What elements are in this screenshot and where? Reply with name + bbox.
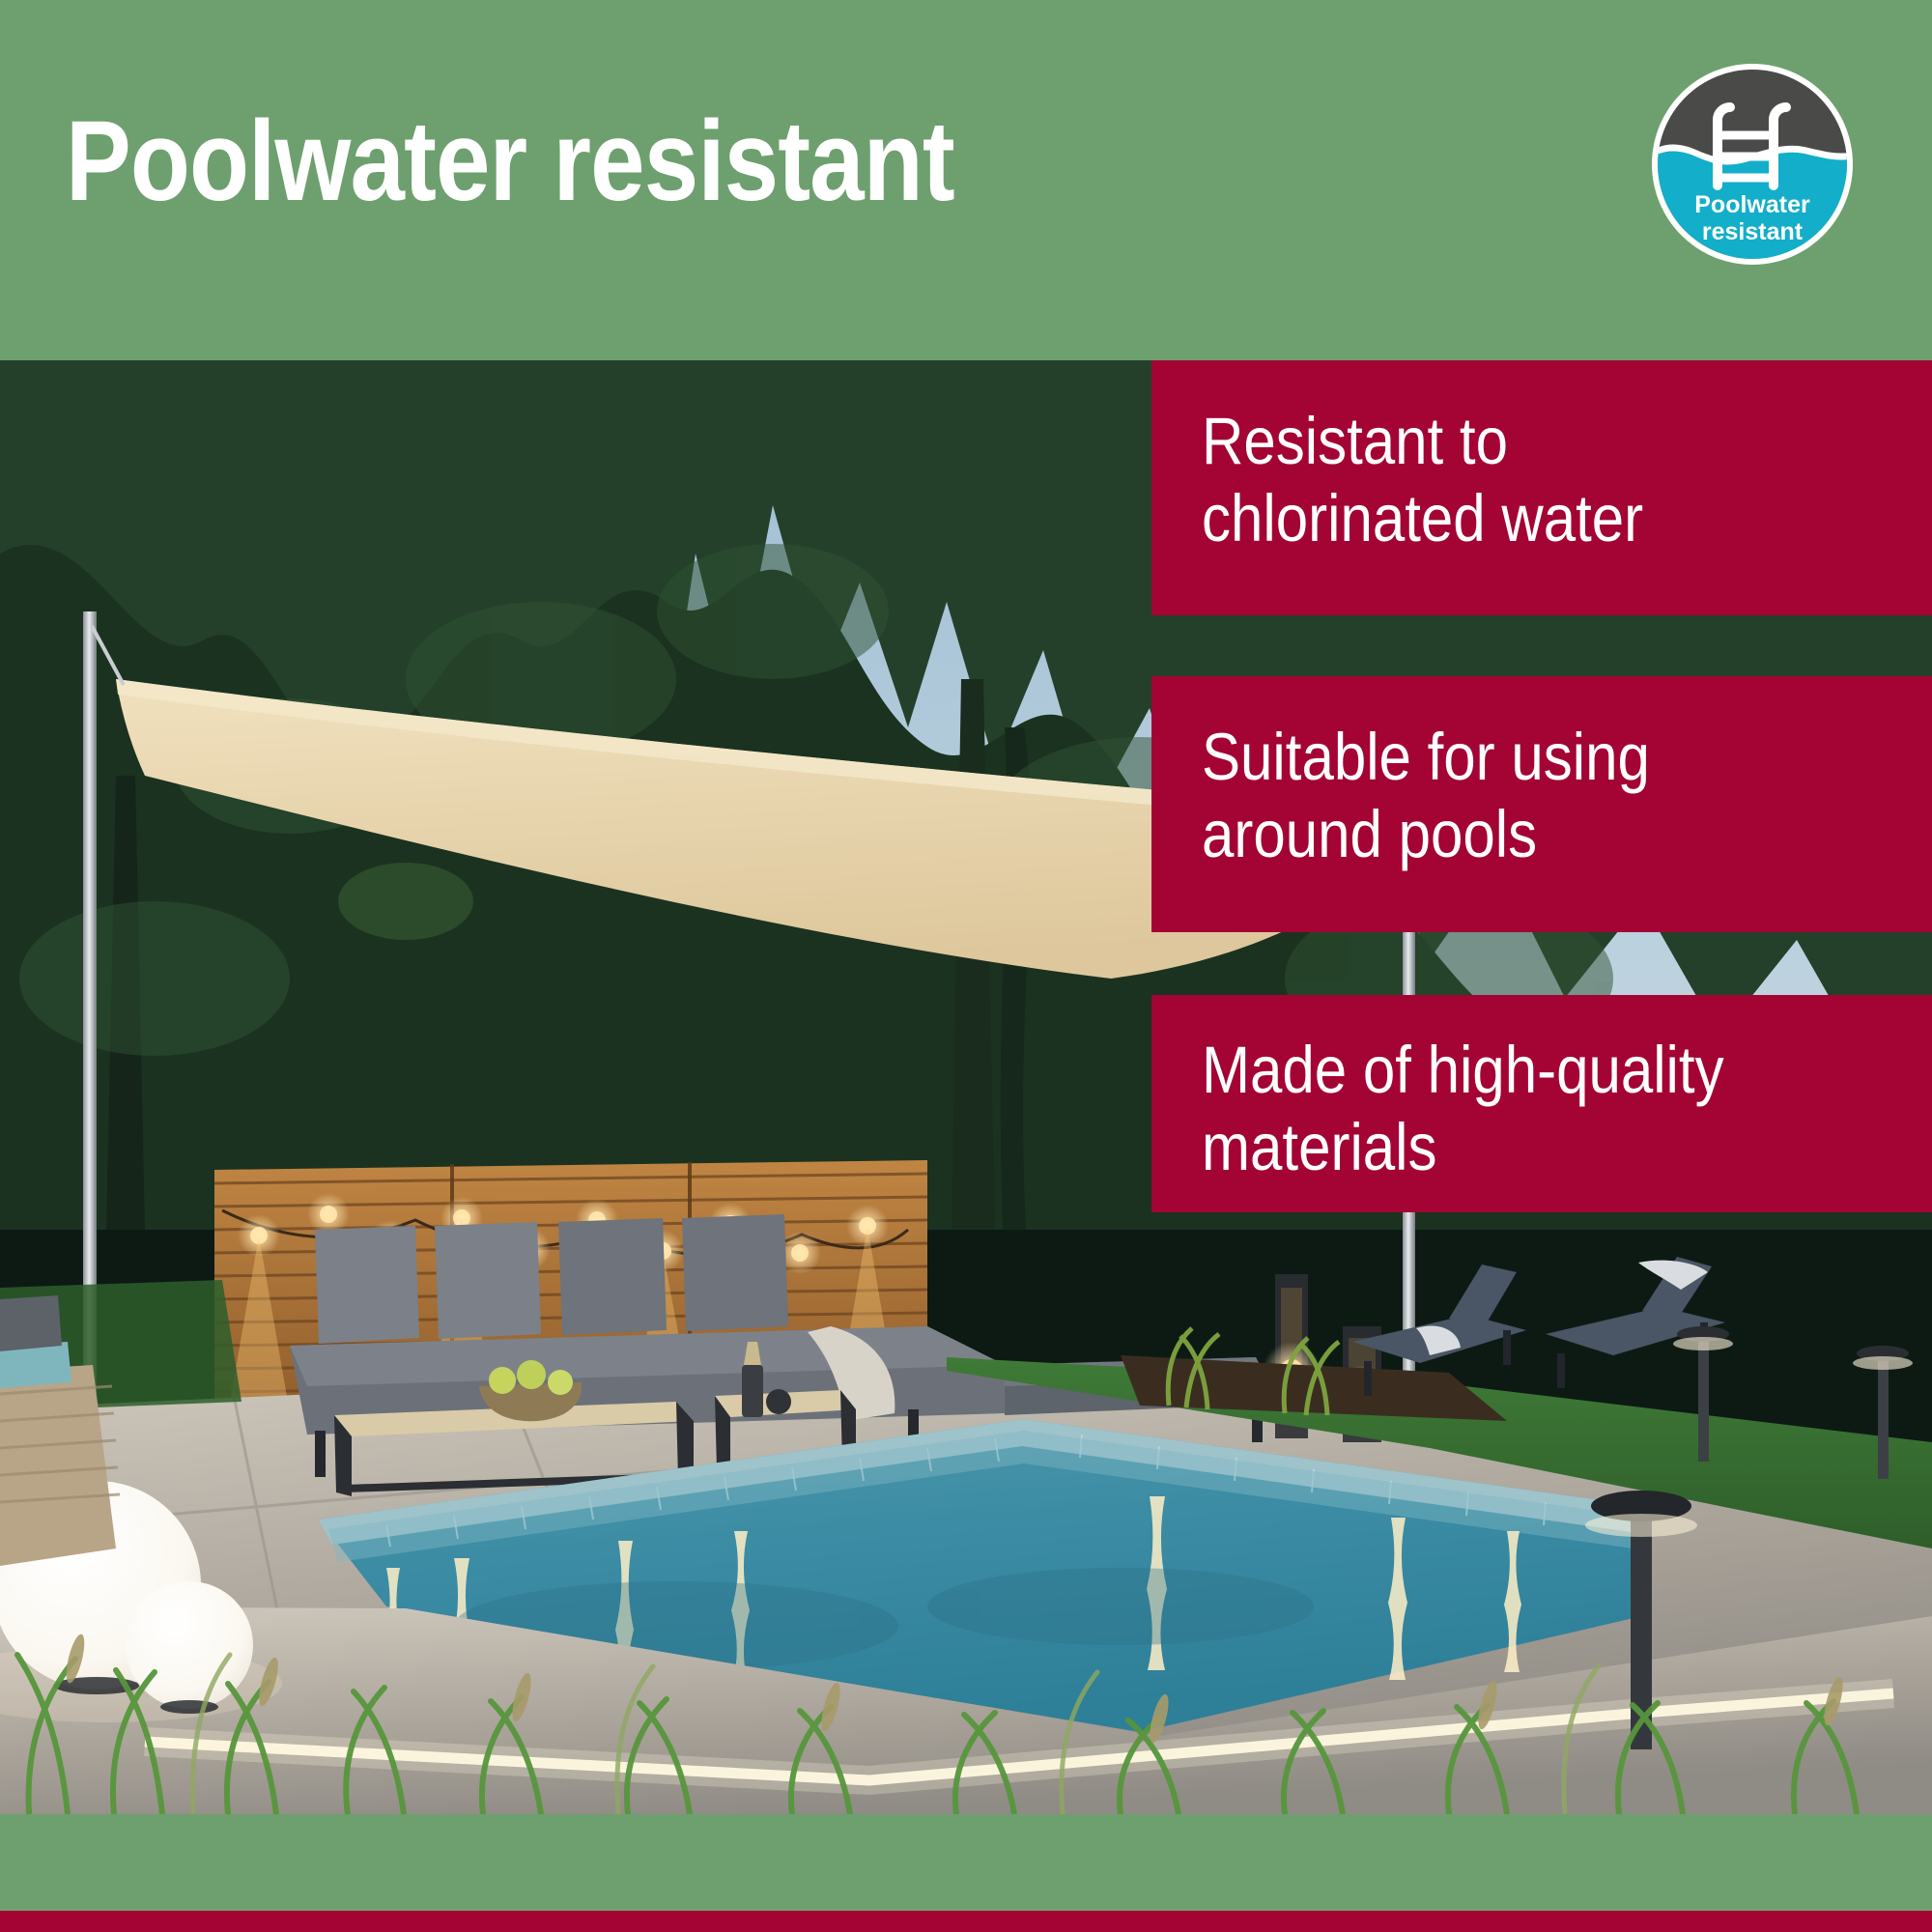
footer-green-band (0, 1814, 1932, 1911)
feature-text: Suitable for using around pools (1202, 719, 1793, 873)
badge-line2: resistant (1702, 218, 1804, 245)
footer-accent-bar (0, 1911, 1932, 1932)
badge-line1: Poolwater (1694, 191, 1810, 218)
feature-text: Resistant to chlorinated water (1202, 403, 1793, 557)
poolwater-resistant-badge: Poolwater resistant (1648, 60, 1857, 269)
page-title: Poolwater resistant (66, 104, 954, 218)
header-band: Poolwater resistant (0, 0, 1932, 360)
feature-resistant-chlorinated-water: Resistant to chlorinated water (1151, 360, 1932, 615)
bollard-light-right (1878, 1355, 1889, 1479)
feature-high-quality-materials: Made of high-quality materials (1151, 995, 1932, 1212)
feature-text: Made of high-quality materials (1202, 1032, 1793, 1186)
feature-suitable-around-pools: Suitable for using around pools (1151, 676, 1932, 932)
bollard-light-mid (1698, 1336, 1709, 1462)
